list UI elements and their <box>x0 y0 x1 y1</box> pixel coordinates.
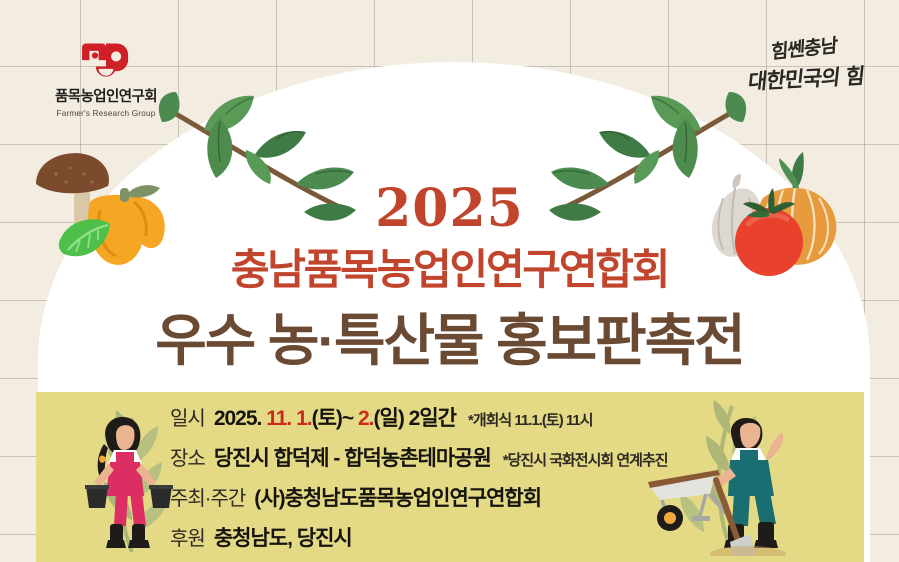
info-label-location: 장소 <box>170 442 205 471</box>
date-highlight-start: 11. 1. <box>266 407 311 430</box>
info-row-sponsor: 후원 충청남도, 당진시 <box>170 522 810 562</box>
date-middle: (토)~ <box>312 407 358 430</box>
fd-face-logo-icon <box>78 38 134 84</box>
date-highlight-end: 2. <box>358 407 374 430</box>
info-value-host: (사)충청남도품목농업인연구연합회 <box>254 482 541 512</box>
info-note-location: *당진시 국화전시회 연계추진 <box>503 449 668 470</box>
poster-headline: 우수 농·특산물 홍보판촉전 <box>0 296 899 377</box>
info-note-date: *개회식 11.1.(토) 11시 <box>468 409 593 430</box>
poster-year: 2025 <box>0 178 899 239</box>
info-label-date: 일시 <box>170 402 205 431</box>
slogan-line-2: 대한민국의 힘 <box>746 60 865 96</box>
info-row-location: 장소 당진시 합덕제 - 합덕농촌테마공원 *당진시 국화전시회 연계추진 <box>170 442 810 482</box>
info-value-location: 당진시 합덕제 - 합덕농촌테마공원 <box>214 442 491 472</box>
woman-figure <box>85 417 173 548</box>
info-value-sponsor: 충청남도, 당진시 <box>214 522 352 552</box>
event-info-panel: 일시 2025. 11. 1.(토)~ 2.(일) 2일간 *개회식 11.1.… <box>36 392 864 562</box>
province-slogan-calligraphy: 힘쎈충남 대한민국의 힘 <box>745 30 865 97</box>
date-prefix: 2025. <box>214 407 266 430</box>
event-info-rows: 일시 2025. 11. 1.(토)~ 2.(일) 2일간 *개회식 11.1.… <box>170 402 810 562</box>
info-label-sponsor: 후원 <box>170 522 205 551</box>
poster-organization-title: 충남품목농업인연구연합회 <box>0 236 899 297</box>
info-row-date: 일시 2025. 11. 1.(토)~ 2.(일) 2일간 *개회식 11.1.… <box>170 402 810 442</box>
logo-name-english: Farmer's Research Group <box>40 109 172 118</box>
info-row-host: 주최·주간 (사)충청남도품목농업인연구연합회 <box>170 482 810 522</box>
farmer-woman-with-buckets-icon <box>58 400 188 562</box>
date-suffix: (일) 2일간 <box>374 407 456 430</box>
info-value-date: 2025. 11. 1.(토)~ 2.(일) 2일간 <box>214 402 456 432</box>
info-label-host: 주최·주간 <box>170 482 245 511</box>
poster-canvas: 품목농업인연구회 Farmer's Research Group 힘쎈충남 대한… <box>0 0 899 562</box>
logo-name-korean: 품목농업인연구회 <box>40 90 172 106</box>
organization-logo: 품목농업인연구회 Farmer's Research Group <box>40 38 172 118</box>
